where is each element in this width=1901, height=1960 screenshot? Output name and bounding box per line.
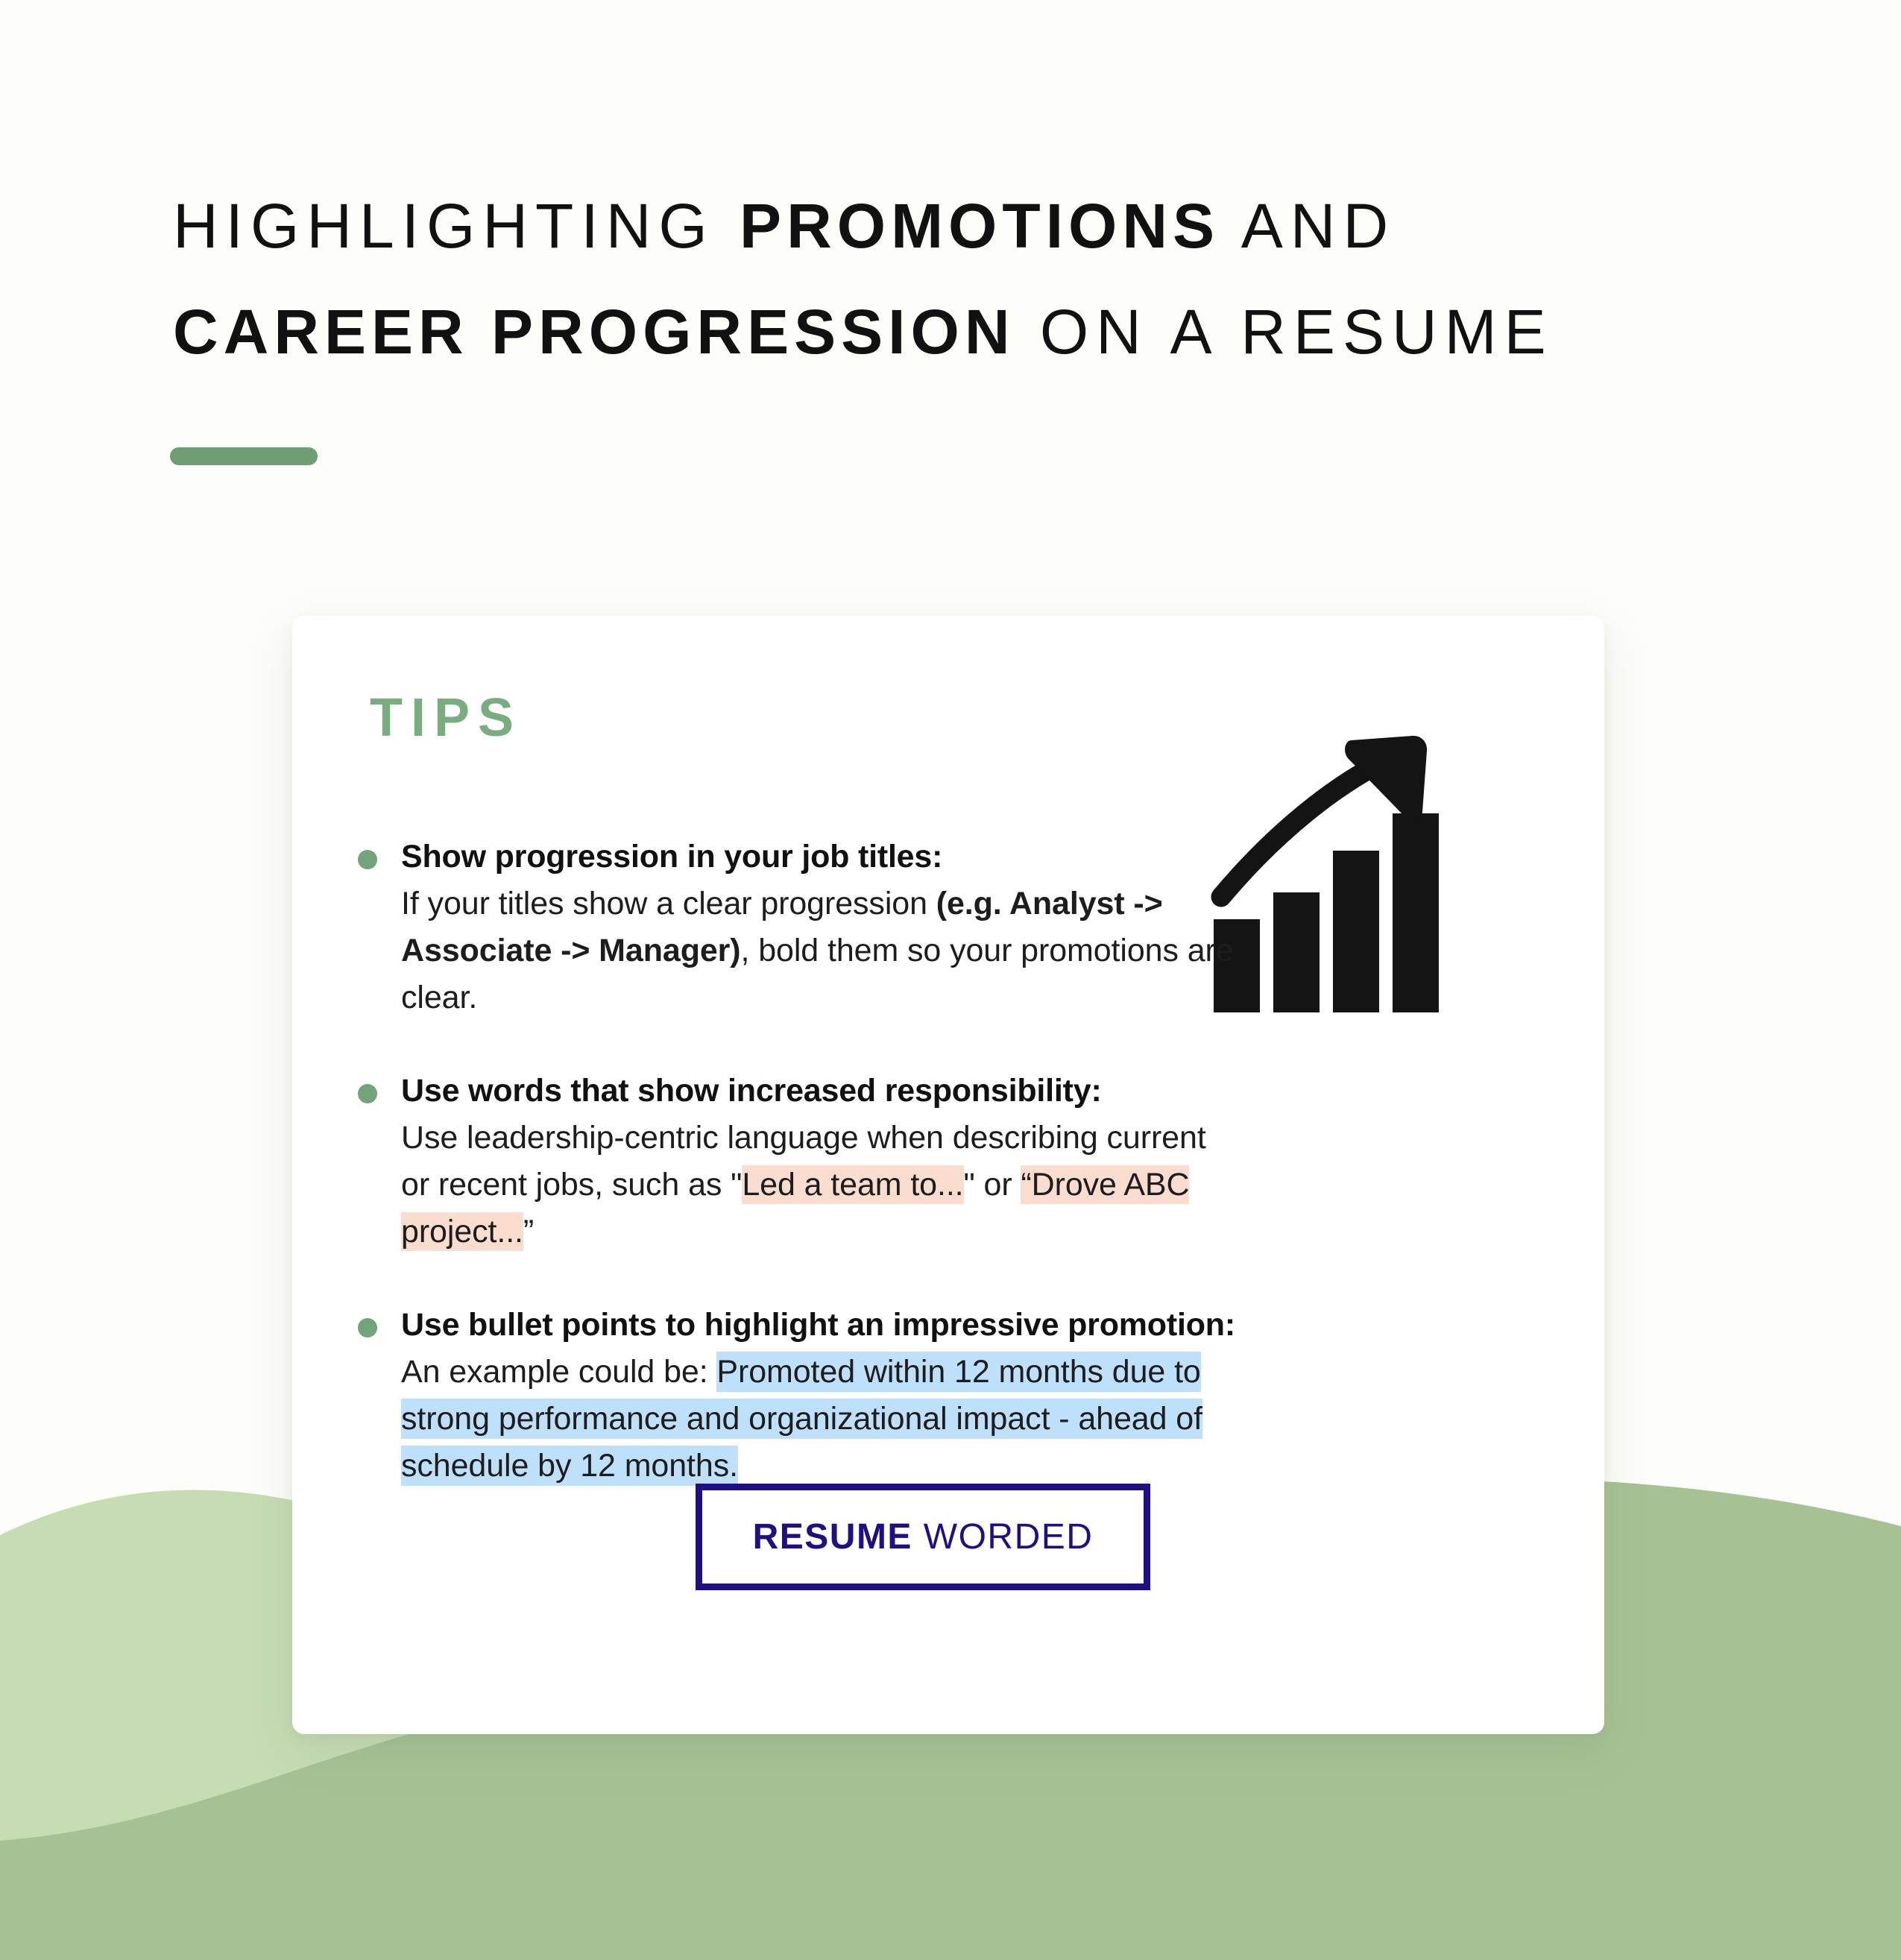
page-header: HIGHLIGHTING PROMOTIONS AND CAREER PROGR… bbox=[173, 173, 1738, 385]
tips-bullet-list: Show progression in your job titles: If … bbox=[358, 834, 1238, 1490]
tip-bullet-1: Show progression in your job titles: If … bbox=[358, 834, 1238, 1021]
growth-bar-chart-arrow-icon bbox=[1208, 719, 1469, 1018]
tip-2-body-part-2: " or bbox=[964, 1167, 1021, 1203]
tip-1-body-part-1: If your titles show a clear progression bbox=[401, 886, 936, 921]
page-title-line-2: CAREER PROGRESSION ON A RESUME bbox=[173, 279, 1738, 385]
tip-2-body: Use leadership-centric language when des… bbox=[401, 1115, 1238, 1255]
logo-word-worded: WORDED bbox=[912, 1517, 1093, 1557]
accent-dash-divider bbox=[170, 447, 318, 465]
tip-2-title: Use words that show increased responsibi… bbox=[401, 1068, 1238, 1115]
tip-3-title: Use bullet points to highlight an impres… bbox=[401, 1302, 1238, 1349]
page-title-line-1: HIGHLIGHTING PROMOTIONS AND bbox=[173, 173, 1738, 279]
bullet-dot-icon bbox=[358, 1084, 377, 1103]
bar-2 bbox=[1273, 892, 1320, 1012]
resume-worded-logo-text: RESUME WORDED bbox=[753, 1516, 1094, 1557]
resume-worded-logo[interactable]: RESUME WORDED bbox=[696, 1484, 1150, 1590]
bar-4 bbox=[1393, 813, 1439, 1012]
tip-3-body-part-1: An example could be: bbox=[401, 1354, 716, 1390]
bullet-dot-icon bbox=[358, 850, 377, 869]
tip-bullet-2: Use words that show increased responsibi… bbox=[358, 1068, 1238, 1255]
tip-3-body: An example could be: Promoted within 12 … bbox=[401, 1349, 1238, 1490]
title-text-highlighting: HIGHLIGHTING bbox=[173, 191, 740, 261]
title-text-and: AND bbox=[1220, 191, 1396, 261]
bar-3 bbox=[1333, 851, 1379, 1012]
title-text-promotions: PROMOTIONS bbox=[740, 191, 1220, 261]
title-text-career-progression: CAREER PROGRESSION bbox=[173, 297, 1015, 367]
logo-word-resume: RESUME bbox=[753, 1517, 912, 1557]
tip-bullet-3: Use bullet points to highlight an impres… bbox=[358, 1302, 1238, 1490]
tip-1-title: Show progression in your job titles: bbox=[401, 834, 1238, 880]
title-text-on-a-resume: ON A RESUME bbox=[1015, 297, 1554, 367]
tip-1-body: If your titles show a clear progression … bbox=[401, 880, 1238, 1021]
tips-heading: TIPS bbox=[370, 686, 522, 750]
bullet-dot-icon bbox=[358, 1318, 377, 1337]
tip-2-highlight-led-a-team: Led a team to... bbox=[742, 1165, 963, 1204]
tip-2-body-part-3: ” bbox=[523, 1214, 534, 1250]
